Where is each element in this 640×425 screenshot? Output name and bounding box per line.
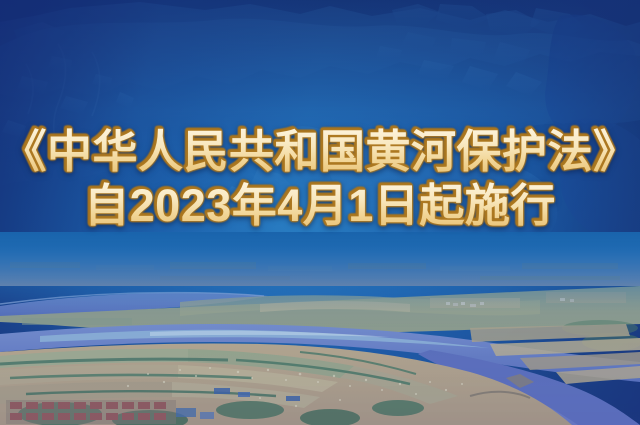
headline-block: 《中华人民共和国黄河保护法》 自2023年4月1日起施行 xyxy=(0,128,640,229)
headline-line-1: 《中华人民共和国黄河保护法》 xyxy=(0,128,640,176)
headline-line-2: 自2023年4月1日起施行 xyxy=(0,182,640,230)
aerial-river-photo xyxy=(0,232,640,425)
news-banner: 《中华人民共和国黄河保护法》 自2023年4月1日起施行 xyxy=(0,0,640,425)
